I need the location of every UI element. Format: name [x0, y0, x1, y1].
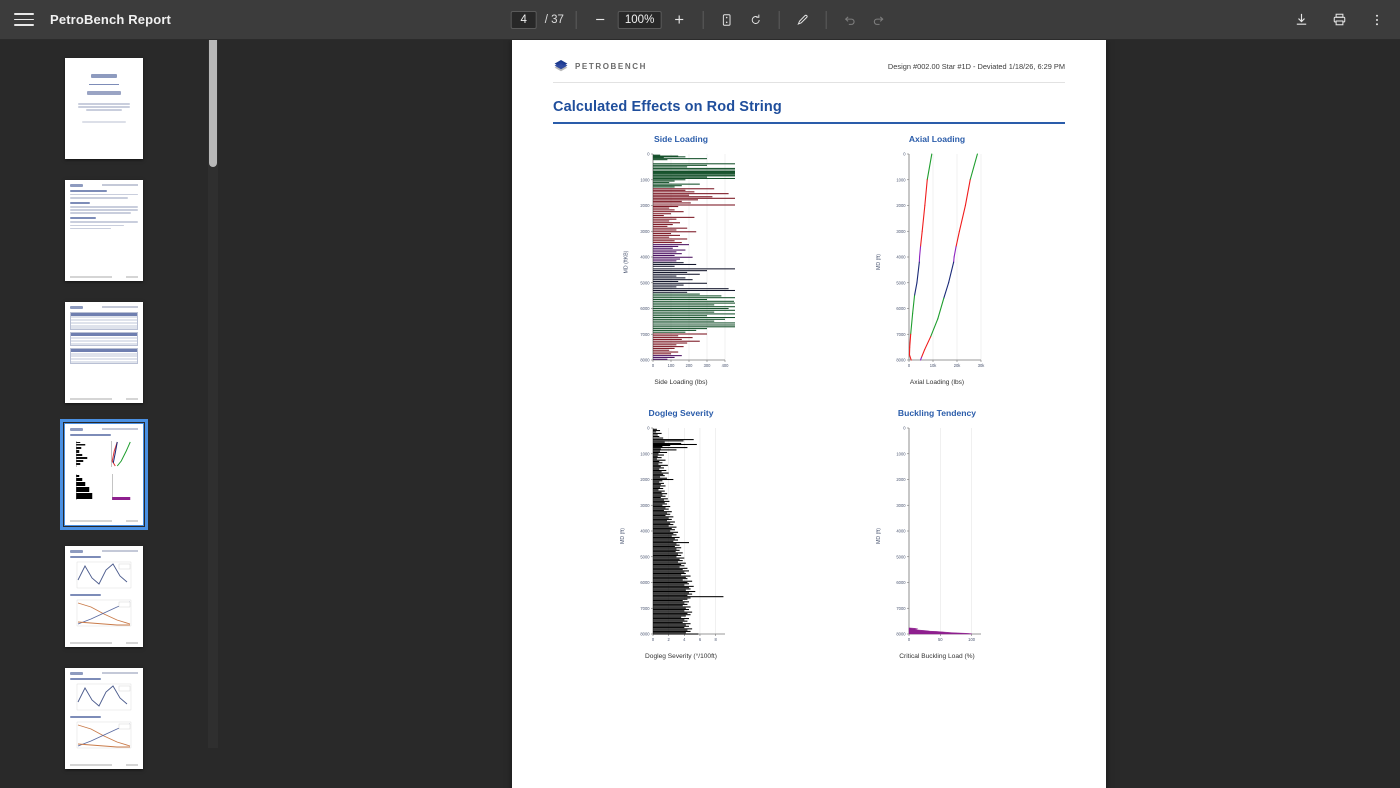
chart-canvas: 01000200030004000500060007000800002468MD…	[627, 422, 735, 650]
pdf-viewer: PetroBench Report 4 / 37 100%	[0, 0, 1400, 788]
zoom-in-button[interactable]	[668, 9, 690, 31]
svg-text:5000: 5000	[896, 280, 906, 285]
svg-text:5000: 5000	[640, 280, 650, 285]
svg-text:0: 0	[903, 425, 906, 430]
chart-canvas: 010002000300040005000600070008000010k20k…	[883, 148, 991, 376]
page-total-label: / 37	[545, 14, 564, 26]
svg-text:50: 50	[938, 637, 943, 642]
thumbnail-preview[interactable]	[65, 180, 143, 281]
svg-text:2000: 2000	[896, 203, 906, 208]
thumbnail-preview[interactable]	[65, 546, 143, 647]
more-options-icon[interactable]	[1366, 9, 1388, 31]
hamburger-icon[interactable]	[12, 8, 36, 32]
svg-text:7000: 7000	[640, 331, 650, 336]
zoom-out-button[interactable]	[589, 9, 611, 31]
chart-x-axis-label: Critical Buckling Load (%)	[899, 653, 975, 660]
pdf-page: PETROBENCH Design #002.00 Star #1D - Dev…	[512, 40, 1106, 788]
svg-text:0: 0	[647, 425, 650, 430]
petrobench-logo-icon	[553, 58, 569, 74]
chart-x-axis-label: Dogleg Severity (°/100ft)	[645, 653, 717, 660]
redo-icon[interactable]	[867, 9, 889, 31]
chart-canvas: 010002000300040005000600070008000050100M…	[883, 422, 991, 650]
svg-text:3000: 3000	[640, 502, 650, 507]
svg-text:0: 0	[903, 151, 906, 156]
svg-text:7000: 7000	[896, 605, 906, 610]
header-divider	[553, 82, 1065, 83]
toolbar-divider	[576, 11, 577, 29]
download-icon[interactable]	[1290, 9, 1312, 31]
chart-cell: Buckling Tendency01000200030004000500060…	[809, 408, 1065, 660]
svg-text:6: 6	[699, 637, 702, 642]
svg-text:4000: 4000	[640, 254, 650, 259]
thumbnail-item[interactable]	[65, 668, 143, 776]
fit-page-icon[interactable]	[715, 9, 737, 31]
svg-text:1000: 1000	[640, 451, 650, 456]
zoom-level-input[interactable]: 100%	[618, 11, 661, 29]
svg-text:3000: 3000	[640, 228, 650, 233]
chart-y-axis-label: MD (ft)	[620, 528, 626, 544]
svg-text:5000: 5000	[640, 554, 650, 559]
document-title: PetroBench Report	[50, 12, 171, 27]
svg-text:3000: 3000	[896, 228, 906, 233]
svg-text:6000: 6000	[896, 580, 906, 585]
chart-cell: Dogleg Severity0100020003000400050006000…	[553, 408, 809, 660]
thumbnail-item[interactable]	[65, 180, 143, 288]
svg-text:200: 200	[686, 363, 694, 368]
svg-text:100: 100	[668, 363, 676, 368]
svg-text:0: 0	[647, 151, 650, 156]
chart-y-axis-label: MD (ft)	[876, 254, 882, 270]
page-header: PETROBENCH Design #002.00 Star #1D - Dev…	[553, 58, 1065, 82]
svg-text:6000: 6000	[640, 306, 650, 311]
charts-grid: Side Loading0100020003000400050006000700…	[553, 134, 1065, 660]
svg-text:300: 300	[704, 363, 712, 368]
chart-canvas: 0100020003000400050006000700080000100200…	[627, 148, 735, 376]
chart-title: Axial Loading	[909, 134, 965, 144]
toolbar: PetroBench Report 4 / 37 100%	[0, 0, 1400, 40]
chart-x-axis-label: Axial Loading (lbs)	[910, 379, 964, 386]
chart-plot: 010002000300040005000600070008000050100	[883, 422, 991, 650]
svg-text:8000: 8000	[896, 357, 906, 362]
svg-text:4000: 4000	[896, 528, 906, 533]
svg-text:10k: 10k	[930, 363, 938, 368]
svg-text:4000: 4000	[640, 528, 650, 533]
svg-text:20k: 20k	[954, 363, 962, 368]
chart-cell: Side Loading0100020003000400050006000700…	[553, 134, 809, 386]
chart-title: Buckling Tendency	[898, 408, 976, 418]
chart-y-axis-label: MD (ftKB)	[623, 250, 629, 273]
chart-plot: 0100020003000400050006000700080000100200…	[627, 148, 735, 376]
svg-text:7000: 7000	[896, 331, 906, 336]
svg-text:1000: 1000	[640, 177, 650, 182]
print-icon[interactable]	[1328, 9, 1350, 31]
chart-title: Side Loading	[654, 134, 708, 144]
svg-text:4: 4	[683, 637, 686, 642]
brand-name: PETROBENCH	[575, 62, 647, 71]
chart-cell: Axial Loading010002000300040005000600070…	[809, 134, 1065, 386]
thumbnail-list	[0, 40, 208, 788]
annotate-icon[interactable]	[791, 9, 813, 31]
thumbnail-item[interactable]	[65, 58, 143, 166]
chart-y-axis-label: MD (ft)	[876, 528, 882, 544]
svg-text:8000: 8000	[640, 631, 650, 636]
svg-text:1000: 1000	[896, 177, 906, 182]
svg-text:2: 2	[668, 637, 671, 642]
toolbar-divider	[778, 11, 779, 29]
thumbnail-item[interactable]	[65, 424, 143, 532]
page-area[interactable]: PETROBENCH Design #002.00 Star #1D - Dev…	[218, 40, 1400, 788]
thumbnail-sidebar[interactable]	[0, 40, 208, 788]
svg-text:400: 400	[722, 363, 730, 368]
toolbar-divider	[825, 11, 826, 29]
thumbnail-preview[interactable]	[65, 302, 143, 403]
svg-text:6000: 6000	[640, 580, 650, 585]
chart-x-axis-label: Side Loading (lbs)	[654, 379, 707, 386]
svg-text:7000: 7000	[640, 605, 650, 610]
svg-text:0: 0	[908, 363, 911, 368]
undo-icon[interactable]	[838, 9, 860, 31]
page-title: Calculated Effects on Rod String	[553, 99, 1065, 115]
svg-text:2000: 2000	[896, 477, 906, 482]
toolbar-divider	[702, 11, 703, 29]
svg-text:1000: 1000	[896, 451, 906, 456]
svg-text:8: 8	[714, 637, 717, 642]
svg-text:8000: 8000	[640, 357, 650, 362]
svg-text:3000: 3000	[896, 502, 906, 507]
svg-text:2000: 2000	[640, 477, 650, 482]
svg-text:0: 0	[652, 637, 655, 642]
chart-title: Dogleg Severity	[649, 408, 714, 418]
title-divider	[553, 122, 1065, 124]
svg-text:8000: 8000	[896, 631, 906, 636]
chart-plot: 010002000300040005000600070008000010k20k…	[883, 148, 991, 376]
svg-text:2000: 2000	[640, 203, 650, 208]
thumbnail-preview[interactable]	[65, 424, 143, 525]
svg-text:0: 0	[652, 363, 655, 368]
svg-text:100: 100	[968, 637, 976, 642]
brand: PETROBENCH	[553, 58, 647, 74]
thumbnail-preview[interactable]	[65, 668, 143, 769]
chart-plot: 01000200030004000500060007000800002468	[627, 422, 735, 650]
thumbnail-item[interactable]	[65, 302, 143, 410]
rotate-icon[interactable]	[744, 9, 766, 31]
svg-text:4000: 4000	[896, 254, 906, 259]
svg-text:0: 0	[908, 637, 911, 642]
svg-text:5000: 5000	[896, 554, 906, 559]
header-meta: Design #002.00 Star #1D - Deviated 1/18/…	[888, 62, 1065, 71]
thumbnail-item[interactable]	[65, 546, 143, 654]
svg-text:30k: 30k	[978, 363, 986, 368]
page-number-input[interactable]: 4	[511, 11, 537, 29]
thumbnail-preview[interactable]	[65, 58, 143, 159]
svg-text:6000: 6000	[896, 306, 906, 311]
